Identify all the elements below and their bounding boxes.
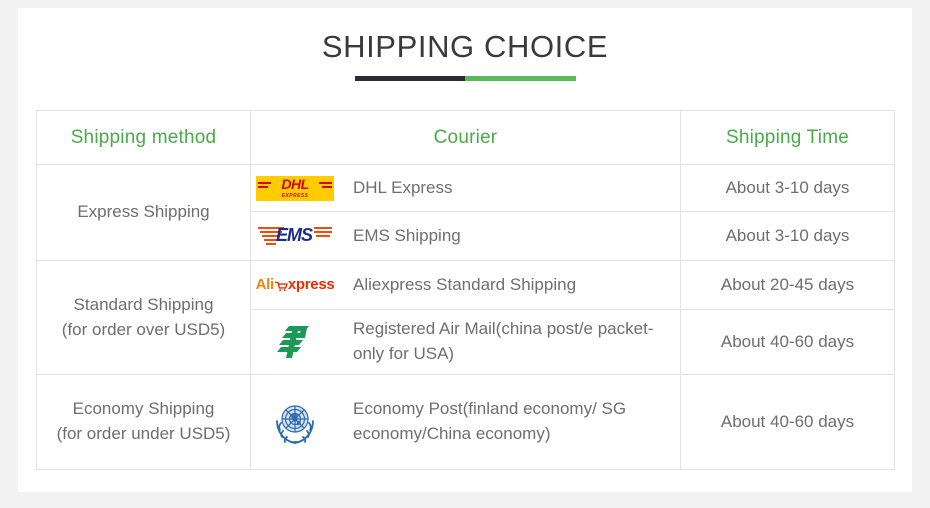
title-underline-dark <box>355 76 466 81</box>
courier-label: EMS Shipping <box>353 224 680 249</box>
courier-cell-dhl: DHL EXPRESS DHL Express <box>251 165 681 212</box>
shipping-table-wrap: Shipping method Courier Shipping Time Ex… <box>36 110 894 470</box>
table-row: Express Shipping DHL <box>37 165 895 212</box>
dhl-wordmark: DHL <box>256 177 334 192</box>
courier-cell-ems: EMS EMS Shipping <box>251 212 681 261</box>
time-cell: About 3-10 days <box>681 165 895 212</box>
ems-logo: EMS <box>256 223 334 250</box>
method-note: (for order under USD5) <box>37 422 250 447</box>
courier-label: DHL Express <box>353 176 680 201</box>
ems-bar <box>316 235 330 237</box>
method-label: Express Shipping <box>37 200 250 225</box>
table-row: Economy Shipping (for order under USD5) <box>37 375 895 470</box>
shipping-table: Shipping method Courier Shipping Time Ex… <box>36 110 895 470</box>
title-underline <box>355 76 576 81</box>
logo-slot: Ali xpress <box>251 276 339 293</box>
method-label: Economy Shipping <box>37 397 250 422</box>
courier-cell-china-post: Registered Air Mail(china post/e packet-… <box>251 310 681 375</box>
aliexpress-xpress-text: xpress <box>288 276 335 293</box>
courier-label: Economy Post(finland economy/ SG economy… <box>353 397 680 446</box>
method-cell-economy: Economy Shipping (for order under USD5) <box>37 375 251 470</box>
header-shipping-method: Shipping method <box>37 111 251 165</box>
aliexpress-ali-text: Ali <box>256 276 274 293</box>
time-cell: About 20-45 days <box>681 261 895 310</box>
logo-slot <box>251 397 339 447</box>
time-cell: About 40-60 days <box>681 310 895 375</box>
method-note: (for order over USD5) <box>37 318 250 343</box>
header-courier: Courier <box>251 111 681 165</box>
courier-cell-economy-post: Economy Post(finland economy/ SG economy… <box>251 375 681 470</box>
table-header-row: Shipping method Courier Shipping Time <box>37 111 895 165</box>
method-cell-standard: Standard Shipping (for order over USD5) <box>37 261 251 375</box>
method-label: Standard Shipping <box>37 293 250 318</box>
time-cell: About 40-60 days <box>681 375 895 470</box>
china-post-logo <box>275 324 315 360</box>
aliexpress-logo: Ali xpress <box>256 276 335 293</box>
un-post-logo <box>270 397 320 447</box>
dhl-logo: DHL EXPRESS <box>256 176 334 201</box>
title-underline-green <box>465 76 576 81</box>
shopping-cart-icon <box>275 279 288 290</box>
logo-slot: DHL EXPRESS <box>251 176 339 201</box>
ems-wordmark: EMS <box>276 225 312 246</box>
method-cell-express: Express Shipping <box>37 165 251 261</box>
ems-bar <box>314 227 332 229</box>
header-shipping-time: Shipping Time <box>681 111 895 165</box>
shipping-card: SHIPPING CHOICE Shipping method Courier … <box>18 8 912 492</box>
time-cell: About 3-10 days <box>681 212 895 261</box>
logo-slot: EMS <box>251 223 339 250</box>
logo-slot <box>251 324 339 360</box>
courier-label: Aliexpress Standard Shipping <box>353 273 680 298</box>
ems-bar <box>266 243 276 245</box>
title-block: SHIPPING CHOICE <box>18 8 912 81</box>
ems-bar <box>314 231 332 233</box>
courier-cell-aliexpress: Ali xpress <box>251 261 681 310</box>
table-row: Standard Shipping (for order over USD5) … <box>37 261 895 310</box>
dhl-subtext: EXPRESS <box>256 193 334 199</box>
courier-label: Registered Air Mail(china post/e packet-… <box>353 317 680 366</box>
page-title: SHIPPING CHOICE <box>18 30 912 64</box>
